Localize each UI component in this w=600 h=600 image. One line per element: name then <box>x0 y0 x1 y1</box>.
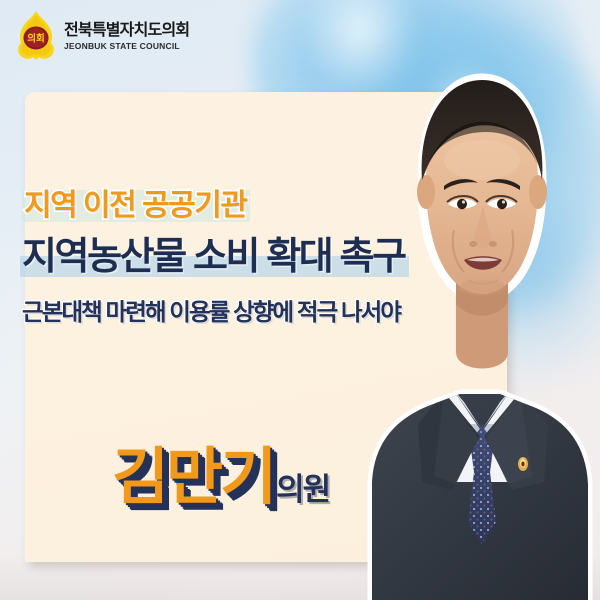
card-news-graphic: 의회 전북특별자치도의회 JEONBUK STATE COUNCIL 지역 이전… <box>0 0 600 600</box>
member-portrait <box>360 52 600 600</box>
org-name-korean: 전북특별자치도의회 <box>64 23 189 39</box>
org-name-english: JEONBUK STATE COUNCIL <box>64 42 189 51</box>
headline-text: 지역농산물 소비 확대 촉구 <box>22 235 405 280</box>
council-logo: 의회 전북특별자치도의회 JEONBUK STATE COUNCIL <box>14 10 189 62</box>
emblem-label: 의회 <box>27 32 44 44</box>
headline-wrapper: 지역농산물 소비 확대 촉구 <box>22 235 405 280</box>
logo-wordmark: 전북특별자치도의회 JEONBUK STATE COUNCIL <box>64 21 189 51</box>
member-title: 의원 <box>276 474 329 505</box>
eyebrow-text: 지역 이전 공공기관 <box>22 185 250 227</box>
member-name: 김만기 <box>112 448 274 509</box>
member-name-block: 김만기 의원 <box>112 448 329 509</box>
eyebrow-wrapper: 지역 이전 공공기관 <box>22 185 250 227</box>
council-emblem-icon: 의회 <box>14 10 58 62</box>
eyebrow-label: 지역 이전 공공기관 <box>24 189 246 222</box>
